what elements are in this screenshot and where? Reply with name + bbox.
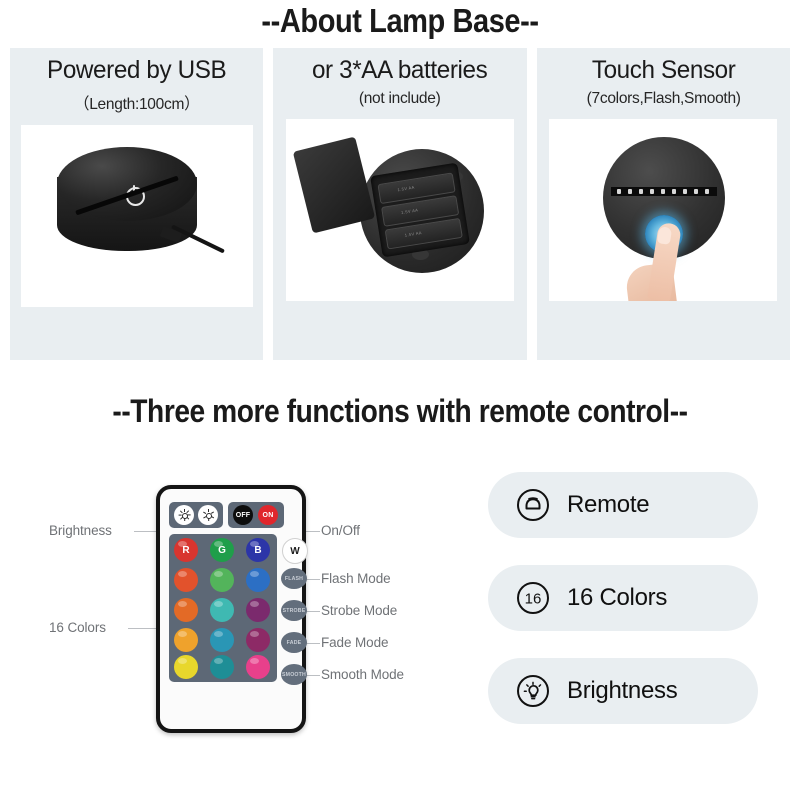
brightness-down-button[interactable] [198,505,218,525]
off-button[interactable]: OFF [233,505,253,525]
panel-title: Powered by USB [14,57,260,83]
color-button[interactable] [246,598,270,622]
smooth-mode-label: SMOOTH [282,672,306,678]
feature-label: Brightness [567,677,677,705]
panel-subtitle: （Length:100cm） [14,90,260,114]
feature-label: Remote [567,491,649,519]
touch-sensor-photo [549,119,777,301]
panel-touch-sensor: Touch Sensor (7colors,Flash,Smooth) [537,48,790,360]
callout-fade-mode: Fade Mode [321,635,388,650]
color-button[interactable] [246,568,270,592]
color-button[interactable] [246,628,270,652]
feature-label: 16 Colors [567,584,667,612]
page-title-about-lamp-base: --About Lamp Base-- [48,2,752,40]
color-label-r: R [182,545,189,556]
remote-control[interactable]: OFF ON R G B [156,485,306,733]
lamp-base-usb-photo [21,125,253,307]
callout-16-colors: 16 Colors [49,620,106,635]
panel-aa-batteries: or 3*AA batteries (not include) 1.5V AA … [273,48,526,360]
infographic-page: --About Lamp Base-- Powered by USB （Leng… [0,0,800,800]
strobe-mode-label: STROBE [283,608,306,614]
color-button[interactable] [174,628,198,652]
fade-mode-label: FADE [287,640,302,646]
color-button-pad: R G B [169,534,277,682]
panel-powered-by-usb: Powered by USB （Length:100cm） [10,48,263,360]
color-button[interactable] [246,655,270,679]
callout-flash-mode: Flash Mode [321,571,391,586]
brightness-up-button[interactable] [174,505,194,525]
brightness-down-icon [203,510,214,521]
brightness-up-icon [179,510,190,521]
on-button-label: ON [258,505,278,525]
off-button-label: OFF [233,505,253,525]
sixteen-circle-icon: 16 [516,581,550,615]
color-button[interactable] [210,598,234,622]
smooth-mode-button[interactable]: SMOOTH [281,664,307,685]
flash-mode-button[interactable]: FLASH [281,568,307,589]
panel-subtitle: (7colors,Flash,Smooth) [540,90,786,108]
remote-diagram: Brightness 16 Colors On/Off Flash Mode S… [0,455,480,775]
brightness-button-pad [169,502,223,528]
brightness-bulb-icon [516,674,550,708]
battery-compartment-photo: 1.5V AA 1.5V AA 1.5V AA [286,119,514,301]
strobe-mode-button[interactable]: STROBE [281,600,307,621]
color-label-w: W [290,546,299,557]
lamp-base-panels: Powered by USB （Length:100cm） or 3*AA ba… [10,48,790,360]
callout-strobe-mode: Strobe Mode [321,603,397,618]
panel-header: or 3*AA batteries (not include) [273,48,526,108]
feature-card-16-colors: 16 16 Colors [488,565,758,631]
feature-card-remote: Remote [488,472,758,538]
svg-text:16: 16 [525,591,542,608]
battery-well: 1.5V AA 1.5V AA 1.5V AA [370,163,470,258]
color-button[interactable] [210,655,234,679]
color-label-g: G [218,545,226,556]
color-button-green[interactable]: G [210,538,234,562]
color-button[interactable] [174,655,198,679]
feature-card-brightness: Brightness [488,658,758,724]
lamp-base-underside: 1.5V AA 1.5V AA 1.5V AA [360,149,484,273]
color-button-red[interactable]: R [174,538,198,562]
power-button-pad: OFF ON [228,502,284,528]
color-button[interactable] [174,568,198,592]
panel-header: Touch Sensor (7colors,Flash,Smooth) [537,48,790,108]
led-strip [611,187,717,196]
battery-cover [293,137,375,234]
panel-header: Powered by USB （Length:100cm） [10,48,263,114]
fade-mode-button[interactable]: FADE [281,632,307,653]
flash-mode-label: FLASH [285,576,303,582]
color-button[interactable] [210,628,234,652]
feature-card-list: Remote 16 16 Colors Brightness [488,472,758,751]
remote-signal-icon [516,488,550,522]
color-button-white[interactable]: W [282,538,308,564]
panel-subtitle: (not include) [277,90,523,108]
callout-on-off: On/Off [321,523,360,538]
panel-title: or 3*AA batteries [277,57,523,83]
color-button[interactable] [174,598,198,622]
color-button-blue[interactable]: B [246,538,270,562]
section-title-remote-functions: --Three more functions with remote contr… [48,393,752,430]
on-button[interactable]: ON [258,505,278,525]
callout-brightness: Brightness [49,523,112,538]
color-label-b: B [254,545,261,556]
callout-smooth-mode: Smooth Mode [321,667,404,682]
color-button[interactable] [210,568,234,592]
panel-title: Touch Sensor [540,57,786,83]
